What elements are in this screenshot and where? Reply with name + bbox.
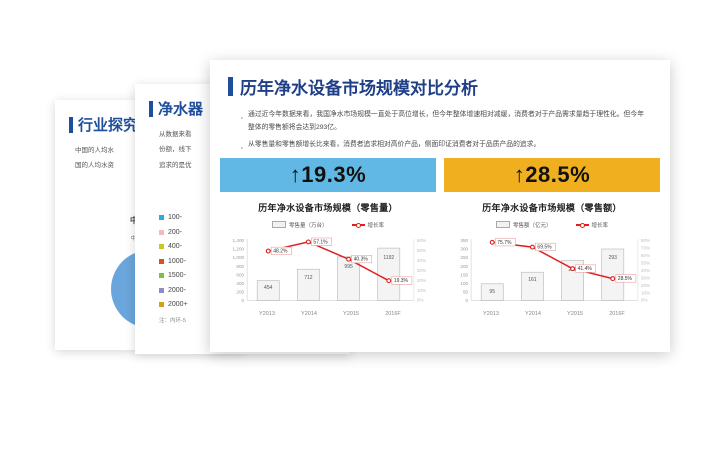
svg-text:75.7%: 75.7% bbox=[497, 239, 512, 245]
svg-text:50: 50 bbox=[463, 289, 469, 294]
legend-label: 1500- bbox=[168, 272, 186, 279]
svg-text:20%: 20% bbox=[417, 278, 426, 283]
legend-label: 增长率 bbox=[592, 221, 609, 229]
svg-text:200: 200 bbox=[236, 289, 244, 294]
legend-label: 2000+ bbox=[168, 301, 188, 308]
legend-swatch bbox=[159, 230, 164, 235]
svg-text:80%: 80% bbox=[641, 238, 650, 243]
svg-text:41.4%: 41.4% bbox=[578, 266, 593, 272]
legend-label: 1000- bbox=[168, 258, 186, 265]
legend-label: 增长率 bbox=[368, 221, 385, 229]
legend-label: 零售额（亿元） bbox=[513, 221, 552, 229]
panel-title-value: 历年净水设备市场规模（零售额） bbox=[444, 201, 660, 214]
svg-text:19.3%: 19.3% bbox=[394, 278, 409, 284]
svg-text:10%: 10% bbox=[417, 288, 426, 293]
legend-entry-line: 增长率 bbox=[352, 221, 385, 229]
svg-text:0%: 0% bbox=[641, 297, 648, 302]
svg-text:50%: 50% bbox=[417, 248, 426, 253]
svg-text:1,400: 1,400 bbox=[233, 238, 245, 243]
svg-text:1,200: 1,200 bbox=[233, 246, 245, 251]
svg-text:40.3%: 40.3% bbox=[354, 256, 369, 262]
svg-text:600: 600 bbox=[236, 272, 244, 277]
legend-bar-swatch bbox=[272, 221, 286, 228]
x-tick: 2016F bbox=[372, 311, 414, 317]
x-tick: Y2014 bbox=[288, 311, 330, 317]
svg-text:95: 95 bbox=[489, 289, 495, 295]
svg-text:300: 300 bbox=[460, 246, 468, 251]
svg-text:400: 400 bbox=[236, 281, 244, 286]
svg-text:50%: 50% bbox=[641, 260, 650, 265]
svg-text:350: 350 bbox=[460, 238, 468, 243]
x-tick: Y2013 bbox=[246, 311, 288, 317]
legend-label: 2000- bbox=[168, 287, 186, 294]
slide-stack: 行业探究 中国的人均水 国的人均水资 中国人口占 中国人口占世界 其他国家人口 … bbox=[0, 0, 722, 451]
page-title: 历年净水设备市场规模对比分析 bbox=[228, 74, 670, 99]
svg-text:40%: 40% bbox=[417, 258, 426, 263]
legend-swatch bbox=[159, 273, 164, 278]
legend-label: 200- bbox=[168, 229, 182, 236]
plot-area-value: 350300 250200 150100 500 80%70% 60%50% 4… bbox=[444, 235, 660, 309]
svg-text:200: 200 bbox=[460, 263, 468, 268]
svg-text:48.2%: 48.2% bbox=[273, 248, 288, 254]
svg-text:161: 161 bbox=[528, 277, 537, 283]
legend-entry-bar: 零售额（亿元） bbox=[496, 221, 552, 229]
svg-text:1192: 1192 bbox=[383, 255, 394, 261]
svg-text:1,000: 1,000 bbox=[233, 255, 245, 260]
plot-area-volume: 1,4001,200 1,000800 600400 2000 60%50% 4… bbox=[220, 235, 436, 309]
svg-text:28.5%: 28.5% bbox=[618, 276, 633, 282]
svg-text:20%: 20% bbox=[641, 283, 650, 288]
x-tick: Y2014 bbox=[512, 311, 554, 317]
panel-title-volume: 历年净水设备市场规模（零售量） bbox=[220, 201, 436, 214]
kpi-banner-value: ↑28.5% bbox=[444, 158, 660, 192]
legend-swatch bbox=[159, 288, 164, 293]
kpi-banner-volume: ↑19.3% bbox=[220, 158, 436, 192]
legend-bar-swatch bbox=[496, 221, 510, 228]
chart-legend-value: 零售额（亿元） 增长率 bbox=[444, 221, 660, 229]
legend-label: 100- bbox=[168, 214, 182, 221]
chart-legend-volume: 零售量（万台） 增长率 bbox=[220, 221, 436, 229]
svg-text:57.1%: 57.1% bbox=[313, 239, 328, 245]
x-axis-value: Y2013 Y2014 Y2015 2016F bbox=[444, 311, 660, 317]
legend-label: 零售量（万台） bbox=[289, 221, 328, 229]
svg-text:40%: 40% bbox=[641, 268, 650, 273]
x-tick: Y2013 bbox=[470, 311, 512, 317]
svg-text:60%: 60% bbox=[417, 238, 426, 243]
svg-text:10%: 10% bbox=[641, 290, 650, 295]
legend-swatch bbox=[159, 244, 164, 249]
slide-reflection: 中国人口占 中国人口占世界 注：内环-5 2000+ 2000- 1500- 1… bbox=[0, 352, 722, 451]
x-axis-volume: Y2013 Y2014 Y2015 2016F bbox=[220, 311, 436, 317]
legend-line-swatch bbox=[352, 222, 365, 227]
svg-text:0%: 0% bbox=[417, 297, 424, 302]
svg-text:0: 0 bbox=[242, 298, 245, 303]
svg-text:30%: 30% bbox=[417, 268, 426, 273]
x-tick: Y2015 bbox=[330, 311, 372, 317]
legend-entry-bar: 零售量（万台） bbox=[272, 221, 328, 229]
summary-bullets: 通过近今年数据来看，我国净水市场规模一直处于高位增长，但今年整体增速相对减缓，消… bbox=[240, 109, 644, 152]
svg-text:0: 0 bbox=[466, 298, 469, 303]
svg-text:712: 712 bbox=[304, 275, 313, 281]
legend-entry-line: 增长率 bbox=[576, 221, 609, 229]
list-item: 通过近今年数据来看，我国净水市场规模一直处于高位增长，但今年整体增速相对减缓，消… bbox=[240, 109, 644, 134]
legend-swatch bbox=[159, 259, 164, 264]
svg-text:293: 293 bbox=[609, 255, 618, 261]
svg-text:100: 100 bbox=[460, 281, 468, 286]
chart-panels: ↑19.3% 历年净水设备市场规模（零售量） 零售量（万台） 增长率 1,400… bbox=[220, 158, 660, 317]
legend-swatch bbox=[159, 215, 164, 220]
svg-text:60%: 60% bbox=[641, 253, 650, 258]
svg-text:800: 800 bbox=[236, 263, 244, 268]
legend-swatch bbox=[159, 302, 164, 307]
x-tick: 2016F bbox=[596, 311, 638, 317]
panel-retail-value[interactable]: ↑28.5% 历年净水设备市场规模（零售额） 零售额（亿元） 增长率 35030… bbox=[444, 158, 660, 317]
svg-text:250: 250 bbox=[460, 255, 468, 260]
svg-text:69.5%: 69.5% bbox=[537, 244, 552, 250]
main-slide-card[interactable]: 历年净水设备市场规模对比分析 通过近今年数据来看，我国净水市场规模一直处于高位增… bbox=[210, 60, 670, 352]
svg-text:995: 995 bbox=[344, 264, 353, 270]
legend-line-swatch bbox=[576, 222, 589, 227]
panel-retail-volume[interactable]: ↑19.3% 历年净水设备市场规模（零售量） 零售量（万台） 增长率 1,400… bbox=[220, 158, 436, 317]
svg-text:30%: 30% bbox=[641, 275, 650, 280]
svg-text:150: 150 bbox=[460, 272, 468, 277]
svg-text:454: 454 bbox=[264, 285, 273, 291]
svg-text:70%: 70% bbox=[641, 245, 650, 250]
x-tick: Y2015 bbox=[554, 311, 596, 317]
list-item: 从零售量和零售额增长比来看，消费者追求相对高价产品，侧面印证消费者对于品质产品的… bbox=[240, 139, 644, 152]
legend-label: 400- bbox=[168, 243, 182, 250]
